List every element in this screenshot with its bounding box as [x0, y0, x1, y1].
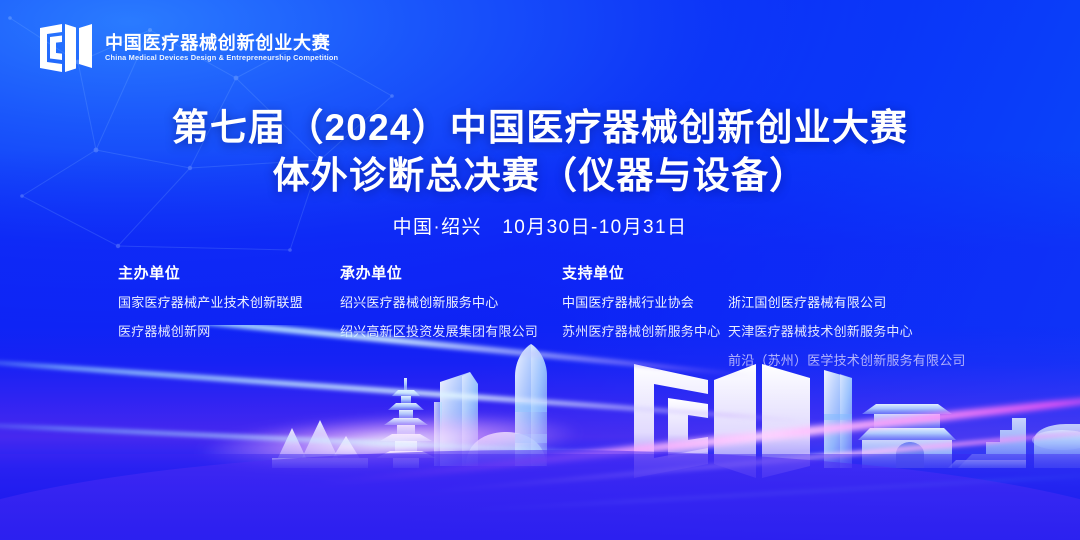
page-title-line-1: 第七届（2024）中国医疗器械创新创业大赛: [0, 104, 1080, 152]
scene-ground: [0, 454, 1080, 540]
title-block: 第七届（2024）中国医疗器械创新创业大赛 体外诊断总决赛（仪器与设备） 中国·…: [0, 104, 1080, 241]
organizer-heading: 承办单位: [340, 266, 562, 282]
brand-logo: 中国医疗器械创新创业大赛 China Medical Devices Desig…: [38, 22, 338, 74]
scene-ground-curve: [0, 450, 1080, 540]
brand-name-en: China Medical Devices Design & Entrepren…: [105, 54, 338, 61]
organizer-heading: 支持单位: [562, 266, 728, 282]
open-door-book-logo-icon: [38, 22, 94, 74]
brand-logo-text: 中国医疗器械创新创业大赛 China Medical Devices Desig…: [105, 34, 338, 61]
city-skyline-scene: [0, 325, 1080, 540]
organizer-item: 浙江国创医疗器械有限公司: [728, 295, 966, 311]
organizer-item: 中国医疗器械行业协会: [562, 295, 728, 311]
event-location-date: 中国·绍兴 10月30日-10月31日: [0, 215, 1080, 241]
organizer-item: 国家医疗器械产业技术创新联盟: [118, 295, 340, 311]
organizer-item: 绍兴医疗器械创新服务中心: [340, 295, 562, 311]
page-title-line-2: 体外诊断总决赛（仪器与设备）: [0, 152, 1080, 200]
brand-name-cn: 中国医疗器械创新创业大赛: [105, 34, 338, 52]
organizer-heading: 主办单位: [118, 266, 340, 282]
competition-poster: 中国医疗器械创新创业大赛 China Medical Devices Desig…: [0, 0, 1080, 540]
